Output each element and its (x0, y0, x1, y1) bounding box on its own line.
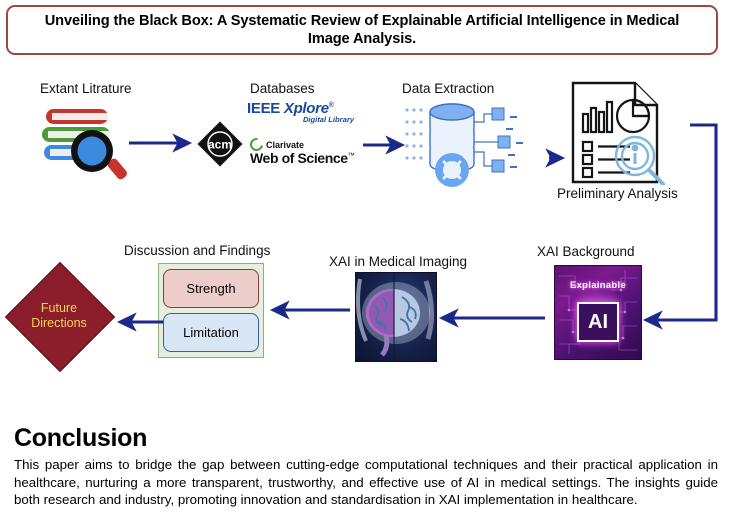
explainable-ai-chip-image: Explainable AI (554, 265, 642, 360)
chip-ai-core-label: AI (577, 302, 619, 342)
future-directions-label: Future Directions (5, 262, 113, 370)
flow-label-preliminary-analysis: Preliminary Analysis (557, 186, 678, 201)
future-directions-line1: Future (41, 301, 77, 316)
flow-label-xai-in-medical-imaging: XAI in Medical Imaging (329, 254, 467, 269)
page-title: Unveiling the Black Box: A Systematic Re… (22, 12, 702, 48)
database-mining-icon (404, 100, 549, 192)
flow-label-discussion-and-findings: Discussion and Findings (124, 243, 270, 258)
brain-illustration (356, 273, 436, 361)
future-directions-line2: Directions (31, 316, 87, 331)
conclusion-heading: Conclusion (14, 424, 147, 453)
flow-label-data-extraction: Data Extraction (402, 81, 494, 96)
report-magnifier-icon (565, 80, 673, 185)
acm-logo-icon: acm (196, 120, 244, 168)
paper-title-banner: Unveiling the Black Box: A Systematic Re… (6, 5, 718, 55)
finding-chip-strength: Strength (163, 269, 259, 308)
chip-explainable-label: Explainable (555, 280, 641, 291)
future-directions-node: Future Directions (5, 262, 113, 370)
clarivate-wordmark: Clarivate (266, 140, 304, 150)
discussion-and-findings-box: Strength Limitation (158, 263, 264, 358)
finding-chip-limitation: Limitation (163, 313, 259, 352)
flow-label-xai-background: XAI Background (537, 244, 635, 259)
acm-logo-text: acm (208, 138, 232, 152)
clarivate-web-of-science-logo: Clarivate Web of Science™ (250, 138, 365, 166)
trademark-mark: ™ (348, 152, 355, 159)
ieee-xplore-logo: IEEE Xplore® Digital Library (247, 100, 357, 128)
web-of-science-text: Web of Science (250, 150, 348, 166)
ieee-prefix: IEEE (247, 100, 284, 117)
web-of-science-wordmark: Web of Science™ (250, 150, 365, 166)
brain-scan-image (355, 272, 437, 362)
flow-label-databases: Databases (250, 81, 315, 96)
flow-label-extant-literature: Extant Litrature (40, 81, 132, 96)
books-magnifier-icon (34, 103, 139, 181)
conclusion-body: This paper aims to bridge the gap betwee… (14, 456, 718, 509)
registered-mark: ® (329, 102, 334, 109)
